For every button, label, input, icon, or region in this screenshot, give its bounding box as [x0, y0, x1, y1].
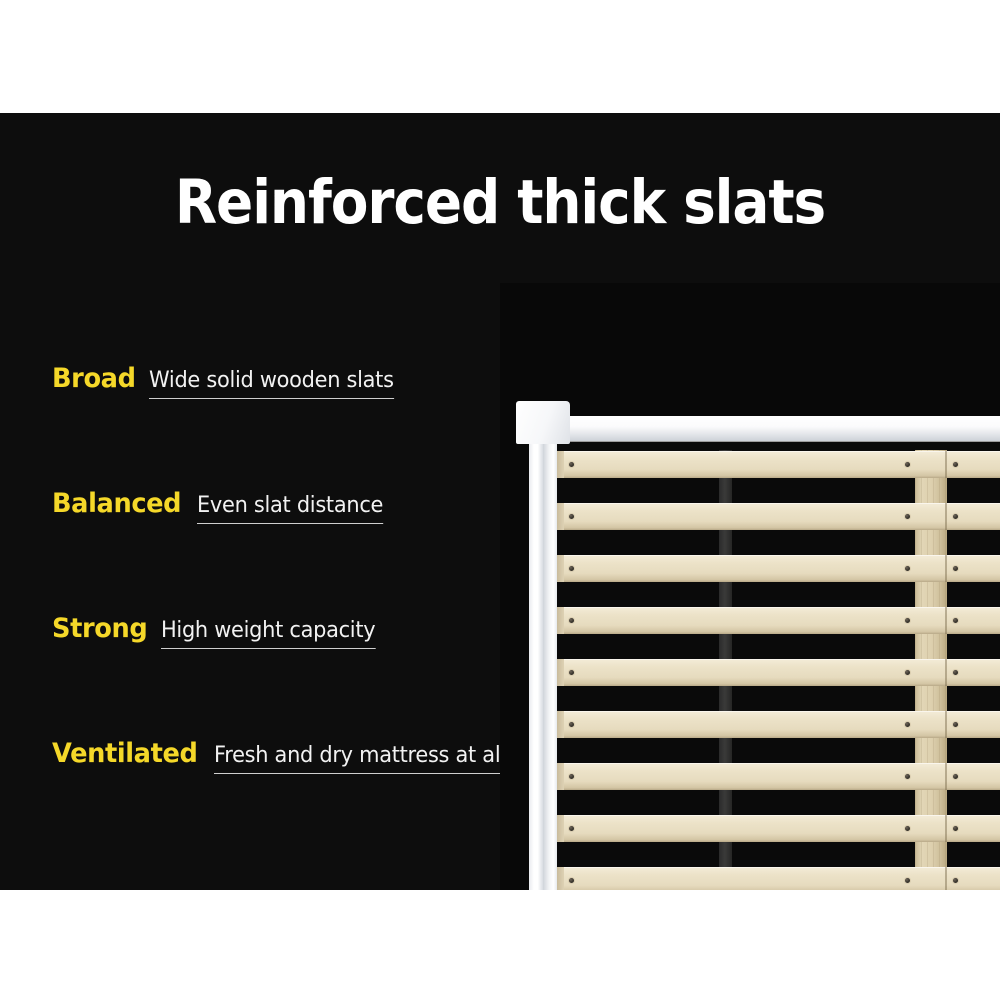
bed-frame-photo — [500, 283, 1000, 890]
feature-item-ventilated: Ventilated Fresh and dry mattress at all… — [52, 738, 522, 863]
slat-screw — [953, 618, 958, 623]
feature-item-balanced: Balanced Even slat distance — [52, 488, 522, 613]
slat-layer — [557, 443, 1000, 890]
slat-screw — [953, 514, 958, 519]
slat-screw — [905, 826, 910, 831]
slat-screw — [905, 618, 910, 623]
bed-slat — [557, 711, 1000, 738]
side-rail — [543, 433, 557, 890]
slat-screw — [905, 462, 910, 467]
bed-slat — [557, 451, 1000, 478]
slat-screw — [905, 774, 910, 779]
slat-screw — [905, 670, 910, 675]
bed-slat — [557, 867, 1000, 890]
feature-value-broad: Wide solid wooden slats — [149, 368, 394, 399]
feature-key-ventilated: Ventilated — [52, 738, 197, 769]
bed-slat — [557, 503, 1000, 530]
slat-screw — [953, 462, 958, 467]
head-rail — [516, 416, 1000, 441]
slat-screw — [569, 670, 574, 675]
feature-key-broad: Broad — [52, 363, 136, 394]
slat-screw — [905, 722, 910, 727]
bed-slat — [557, 607, 1000, 634]
feature-list: Broad Wide solid wooden slats Balanced E… — [52, 363, 522, 863]
slat-screw — [953, 826, 958, 831]
slat-screw — [569, 566, 574, 571]
slat-screw — [953, 878, 958, 883]
slat-screw — [569, 722, 574, 727]
rail-shadow — [516, 441, 1000, 450]
slat-screw — [569, 618, 574, 623]
feature-item-strong: Strong High weight capacity — [52, 613, 522, 738]
slat-screw — [953, 566, 958, 571]
slat-screw — [569, 774, 574, 779]
feature-key-strong: Strong — [52, 613, 147, 644]
corner-post-leg — [529, 441, 543, 890]
slat-screw — [905, 514, 910, 519]
slat-screw — [569, 826, 574, 831]
slat-screw — [905, 566, 910, 571]
slat-screw — [569, 462, 574, 467]
bed-slat — [557, 659, 1000, 686]
feature-value-balanced: Even slat distance — [197, 493, 383, 524]
product-feature-graphic: Reinforced thick slats Broad Wide solid … — [0, 0, 1000, 1000]
slat-screw — [953, 722, 958, 727]
slat-screw — [953, 670, 958, 675]
feature-key-balanced: Balanced — [52, 488, 181, 519]
bed-slat — [557, 763, 1000, 790]
page-title: Reinforced thick slats — [50, 171, 950, 235]
slat-screw — [905, 878, 910, 883]
slat-deck — [557, 443, 1000, 890]
feature-panel: Reinforced thick slats Broad Wide solid … — [0, 113, 1000, 890]
slat-screw — [569, 878, 574, 883]
bed-slat — [557, 815, 1000, 842]
corner-post-cap — [516, 401, 570, 444]
feature-item-broad: Broad Wide solid wooden slats — [52, 363, 522, 488]
feature-value-strong: High weight capacity — [161, 618, 375, 649]
slat-screw — [953, 774, 958, 779]
slat-screw — [569, 514, 574, 519]
bed-slat — [557, 555, 1000, 582]
